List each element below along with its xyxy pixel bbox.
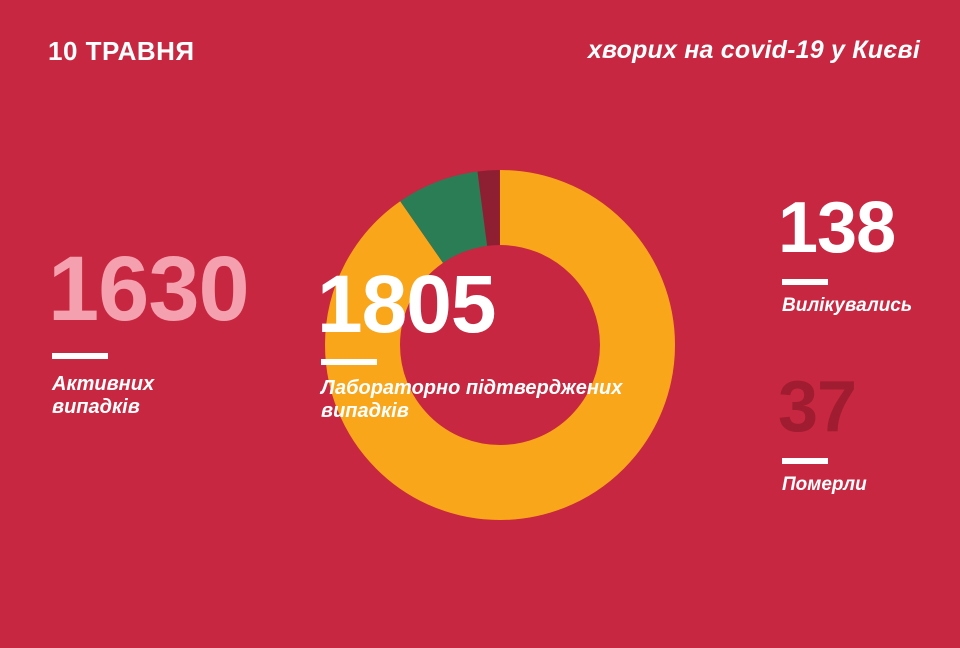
- donut-chart: 1805 Лабораторно підтверджених випадків: [285, 130, 715, 560]
- header: 10 ТРАВНЯ хворих на covid-19 у Києві: [0, 0, 960, 100]
- active-cases-label: Активних випадків: [52, 373, 298, 419]
- header-date: 10 ТРАВНЯ: [48, 36, 195, 67]
- recovered-divider: [782, 279, 828, 285]
- recovered-value: 138: [778, 196, 958, 261]
- deaths-divider: [782, 458, 828, 464]
- header-title: хворих на covid-19 у Києві: [588, 36, 920, 65]
- recovered-label: Вилікувались: [782, 295, 958, 317]
- donut-segment-active: [363, 208, 638, 483]
- deaths-label: Померли: [782, 474, 958, 496]
- donut-chart-svg: [285, 130, 715, 560]
- stat-active-cases: 1630 Активних випадків: [48, 248, 298, 419]
- stat-recovered: 138 Вилікувались: [778, 196, 958, 317]
- active-cases-value: 1630: [48, 248, 298, 331]
- active-cases-divider: [52, 353, 108, 359]
- stat-deaths: 37 Померли: [778, 375, 958, 496]
- deaths-value: 37: [778, 375, 958, 440]
